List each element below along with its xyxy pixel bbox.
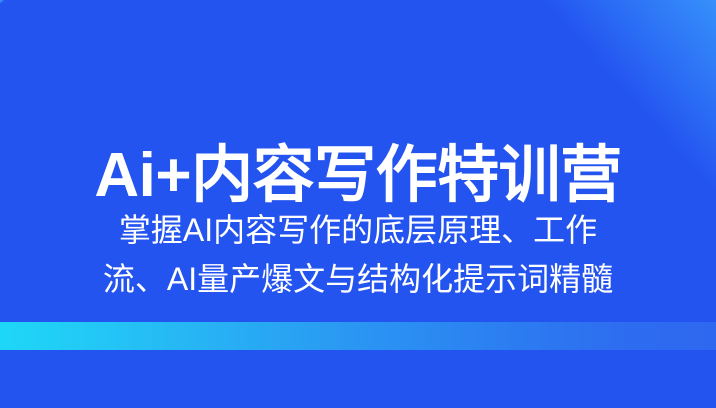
poster-subtitle-line-1: 掌握AI内容写作的底层原理、工作 (28, 206, 688, 255)
poster-subtitle: 掌握AI内容写作的底层原理、工作 流、AI量产爆文与结构化提示词精髓 (28, 206, 688, 303)
poster-title: Ai+内容写作特训营 (0, 143, 716, 209)
poster-content: Ai+内容写作特训营 掌握AI内容写作的底层原理、工作 流、AI量产爆文与结构化… (0, 0, 716, 408)
poster-subtitle-line-2: 流、AI量产爆文与结构化提示词精髓 (28, 255, 688, 304)
course-promo-poster: Ai+内容写作特训营 掌握AI内容写作的底层原理、工作 流、AI量产爆文与结构化… (0, 0, 716, 408)
